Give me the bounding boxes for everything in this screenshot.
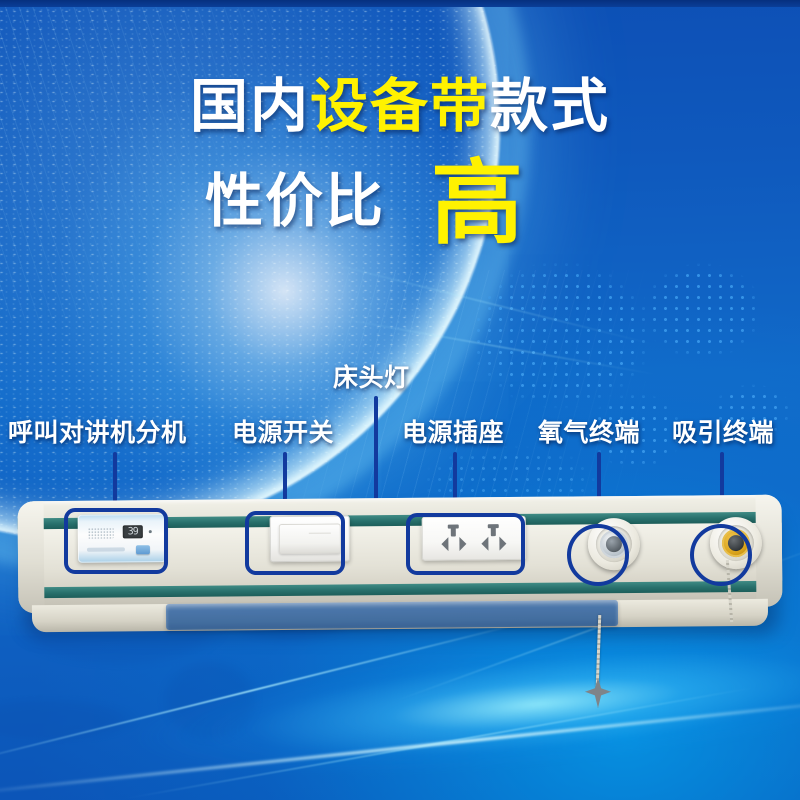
headline-line2-yellow-big: 高 (431, 153, 525, 255)
callout-label-suction-outlet: 吸引终端 (672, 413, 774, 449)
callout-label-oxygen-outlet: 氧气终端 (538, 413, 640, 449)
headline-line-1: 国内设备带款式 (0, 78, 800, 136)
headline-line1-white-b: 款式 (490, 74, 610, 139)
headline-block: 国内设备带款式 性价比高 (0, 78, 800, 250)
highlight-circle-oxygen-outlet (567, 524, 629, 586)
callout-label-bed-lamp: 床头灯 (333, 358, 410, 394)
callout-label-power-socket: 电源插座 (402, 413, 504, 449)
highlight-box-power-socket (406, 513, 525, 575)
headline-line1-white-a: 国内 (190, 74, 310, 139)
panel-rail-cover-strip (166, 600, 618, 630)
callout-label-intercom: 呼叫对讲机分机 (8, 413, 187, 449)
top-edge-bar (0, 0, 800, 7)
callout-label-power-switch: 电源开关 (232, 413, 334, 449)
panel-end-cap-left (18, 501, 45, 613)
promo-banner: 国内设备带款式 性价比高 呼叫对讲机分机 电源开关 床头灯 电源插座 氧气终端 … (0, 0, 800, 800)
headline-line2-white: 性价比 (205, 169, 385, 234)
highlight-box-power-switch (245, 511, 345, 575)
headline-line1-yellow: 设备带 (310, 74, 490, 139)
highlight-circle-suction-outlet (690, 524, 752, 586)
highlight-box-intercom (64, 508, 168, 574)
headline-line-2: 性价比高 (0, 158, 800, 250)
